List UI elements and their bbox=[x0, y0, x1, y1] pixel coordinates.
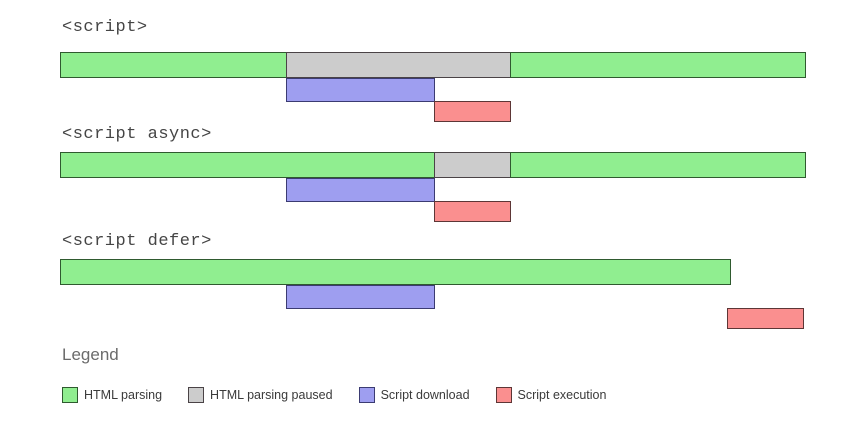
legend-label: HTML parsing paused bbox=[210, 388, 333, 402]
legend-title: Legend bbox=[62, 345, 119, 365]
legend-label: HTML parsing bbox=[84, 388, 162, 402]
script-loading-timeline-diagram: <script><script async><script defer> Leg… bbox=[0, 0, 866, 432]
bar-html-parsing-after-row1 bbox=[510, 52, 806, 78]
bar-html-parsing-paused-row2 bbox=[434, 152, 511, 178]
legend-label: Script download bbox=[381, 388, 470, 402]
legend-swatch-gray-icon bbox=[188, 387, 204, 403]
bar-script-execution-row1 bbox=[434, 101, 511, 122]
legend-swatch-blue-icon bbox=[359, 387, 375, 403]
bar-script-download-row3 bbox=[286, 285, 435, 309]
row-label-3: <script defer> bbox=[62, 232, 212, 251]
bar-html-parsing-row3 bbox=[60, 259, 731, 285]
row-label-1: <script> bbox=[62, 18, 148, 37]
bar-html-parsing-after-row2 bbox=[510, 152, 806, 178]
legend: HTML parsingHTML parsing pausedScript do… bbox=[62, 387, 632, 403]
legend-item-red: Script execution bbox=[496, 387, 607, 403]
bar-script-execution-row3 bbox=[727, 308, 804, 329]
bar-html-parsing-before-row1 bbox=[60, 52, 287, 78]
legend-label: Script execution bbox=[518, 388, 607, 402]
bar-script-execution-row2 bbox=[434, 201, 511, 222]
legend-item-blue: Script download bbox=[359, 387, 470, 403]
bar-html-parsing-paused-row1 bbox=[286, 52, 511, 78]
legend-swatch-green-icon bbox=[62, 387, 78, 403]
legend-swatch-red-icon bbox=[496, 387, 512, 403]
legend-item-gray: HTML parsing paused bbox=[188, 387, 333, 403]
bar-script-download-row2 bbox=[286, 178, 435, 202]
bar-html-parsing-before-row2 bbox=[60, 152, 435, 178]
bar-script-download-row1 bbox=[286, 78, 435, 102]
legend-item-green: HTML parsing bbox=[62, 387, 162, 403]
row-label-2: <script async> bbox=[62, 125, 212, 144]
